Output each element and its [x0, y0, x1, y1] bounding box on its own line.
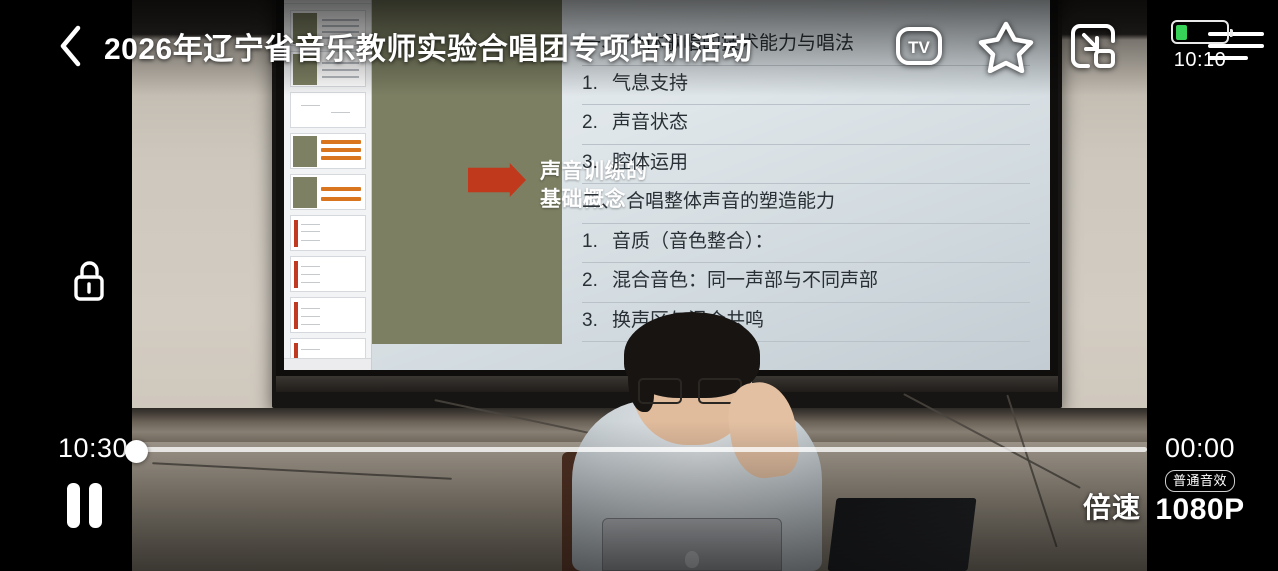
slide-outline-text: 腔体运用	[612, 152, 688, 173]
slide-outline-text: 声音状态	[612, 112, 688, 133]
picture-in-picture-icon	[1068, 21, 1118, 71]
slide-outline-row: 2.声音状态	[582, 105, 1030, 145]
slide-outline-row: 3.腔体运用	[582, 145, 1030, 185]
slide-thumbnail	[290, 215, 366, 251]
seek-handle[interactable]	[125, 440, 148, 463]
seek-bar[interactable]	[132, 441, 1147, 459]
pause-button[interactable]	[60, 482, 108, 528]
status-cluster: 10:10	[1152, 20, 1248, 72]
laptop-silver	[602, 518, 782, 571]
powerpoint-statusbar	[284, 358, 371, 370]
slide-thumbnail	[290, 133, 366, 169]
battery-icon	[1171, 20, 1229, 44]
pause-icon	[67, 483, 80, 528]
slide-thumbnail	[290, 92, 366, 128]
slide-outline-row: 二、合唱整体声音的塑造能力	[582, 184, 1030, 224]
back-button[interactable]	[50, 24, 90, 68]
lock-button[interactable]	[63, 255, 115, 307]
slide-outline-row: 2.混合音色：同一声部与不同声部	[582, 263, 1030, 303]
slide-thumbnail	[290, 174, 366, 210]
slide-outline-number: 3.	[582, 149, 612, 178]
slide-outline-text: 混合音色：同一声部与不同声部	[612, 270, 878, 291]
seek-track	[132, 447, 1147, 452]
favorite-button[interactable]	[978, 19, 1034, 73]
elapsed-time: 10:30	[58, 433, 128, 464]
page-title: 2026年辽宁省音乐教师实验合唱团专项培训活动	[104, 24, 894, 68]
cast-tv-icon: TV	[894, 22, 944, 70]
pause-icon	[89, 483, 102, 528]
remaining-time: 00:00	[1152, 433, 1248, 464]
playback-speed-button[interactable]: 倍速	[1083, 486, 1141, 526]
player-top-bar: 2026年辽宁省音乐教师实验合唱团专项培训活动 TV	[0, 0, 1278, 92]
laptop-black	[828, 498, 977, 571]
slide-outline-number: 1.	[582, 228, 612, 257]
battery-fill	[1176, 25, 1188, 40]
video-player-stage: 声音训练的基础概念 一、个体歌唱的技术能力与唱法1.气息支持2.声音状态3.腔体…	[0, 0, 1278, 571]
lecturer-glasses	[638, 378, 742, 400]
slide-thumbnail	[290, 256, 366, 292]
favorite-star-icon	[978, 19, 1034, 73]
slide-outline-number: 2.	[582, 267, 612, 296]
chevron-left-icon	[57, 25, 83, 67]
slide-outline-text: 合唱整体声音的塑造能力	[626, 191, 835, 212]
status-clock: 10:10	[1174, 49, 1227, 72]
slide-outline-number: 二、	[582, 188, 620, 217]
unlock-icon	[67, 257, 111, 305]
slide-outline-row: 1.音质（音色整合）：	[582, 224, 1030, 264]
slide-outline-number: 3.	[582, 307, 612, 336]
audio-effect-badge[interactable]: 普通音效	[1165, 470, 1235, 492]
quality-label: 1080P	[1155, 493, 1244, 527]
slide-thumbnail	[290, 297, 366, 333]
cast-tv-button[interactable]: TV	[894, 22, 944, 70]
svg-text:TV: TV	[908, 38, 930, 57]
picture-in-picture-button[interactable]	[1068, 21, 1118, 71]
quality-button[interactable]: 普通音效 1080P	[1138, 470, 1262, 527]
slide-outline-text: 音质（音色整合）：	[612, 231, 774, 252]
slide-outline-number: 2.	[582, 109, 612, 138]
